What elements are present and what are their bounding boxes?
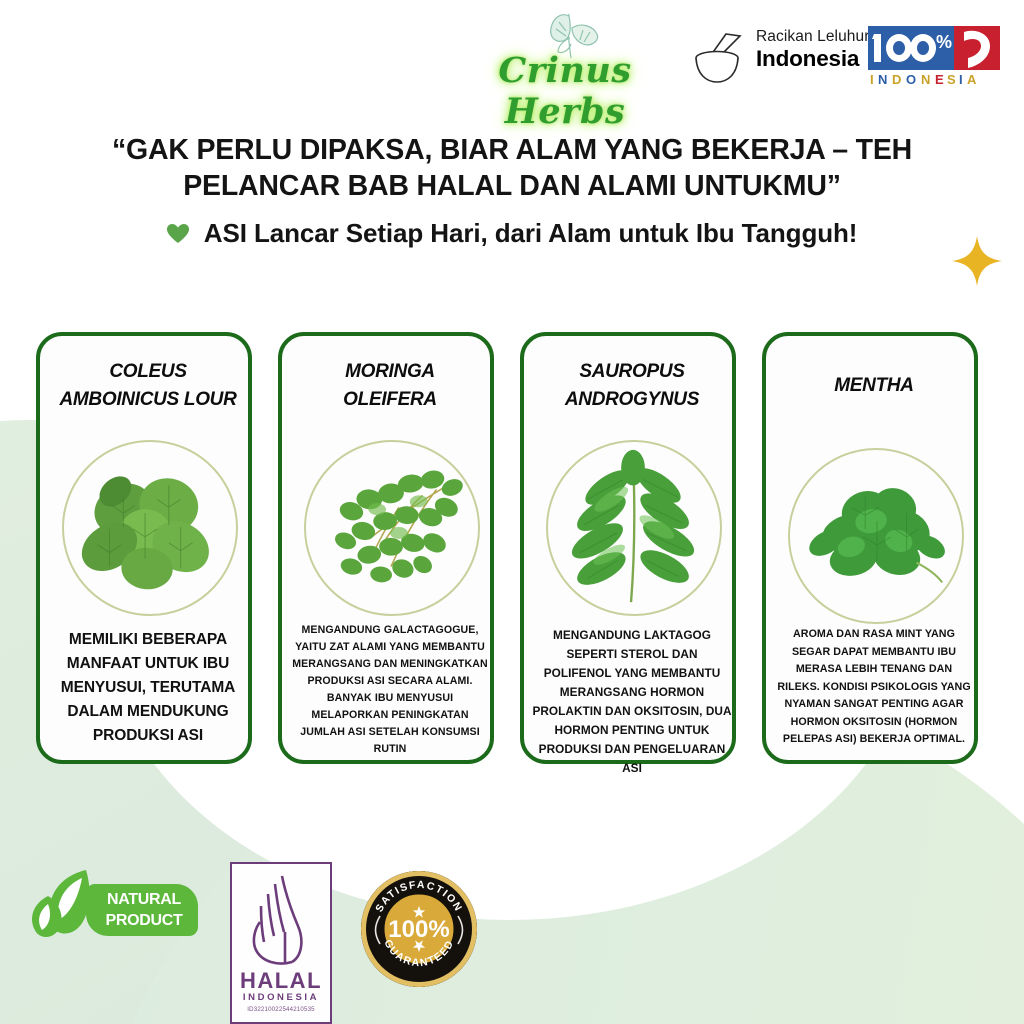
halal-id-number: ID32210022544210535	[232, 1006, 330, 1013]
natural-product-badge[interactable]: NATURAL PRODUCT	[24, 862, 200, 954]
halal-word: HALAL	[232, 968, 330, 994]
halal-indonesia-badge[interactable]: HALAL INDONESIA ID32210022544210535	[230, 862, 332, 1024]
natural-line1: NATURAL	[94, 889, 194, 910]
trust-badges: NATURAL PRODUCT HALAL INDONESIA ID322100…	[0, 0, 1024, 1024]
natural-product-label: NATURAL PRODUCT	[94, 889, 194, 931]
halal-indonesia-mark	[242, 870, 316, 968]
satisfaction-guaranteed-seal: SATISFACTION GUARANTEED 100%	[360, 870, 478, 988]
infographic-canvas: Crinus Herbs Racikan Leluhur Indonesia	[0, 0, 1024, 1024]
satisfaction-center-text: 100%	[388, 916, 449, 943]
satisfaction-guaranteed-badge[interactable]: SATISFACTION GUARANTEED 100%	[360, 870, 478, 988]
halal-country: INDONESIA	[232, 992, 330, 1003]
natural-line2: PRODUCT	[94, 910, 194, 931]
